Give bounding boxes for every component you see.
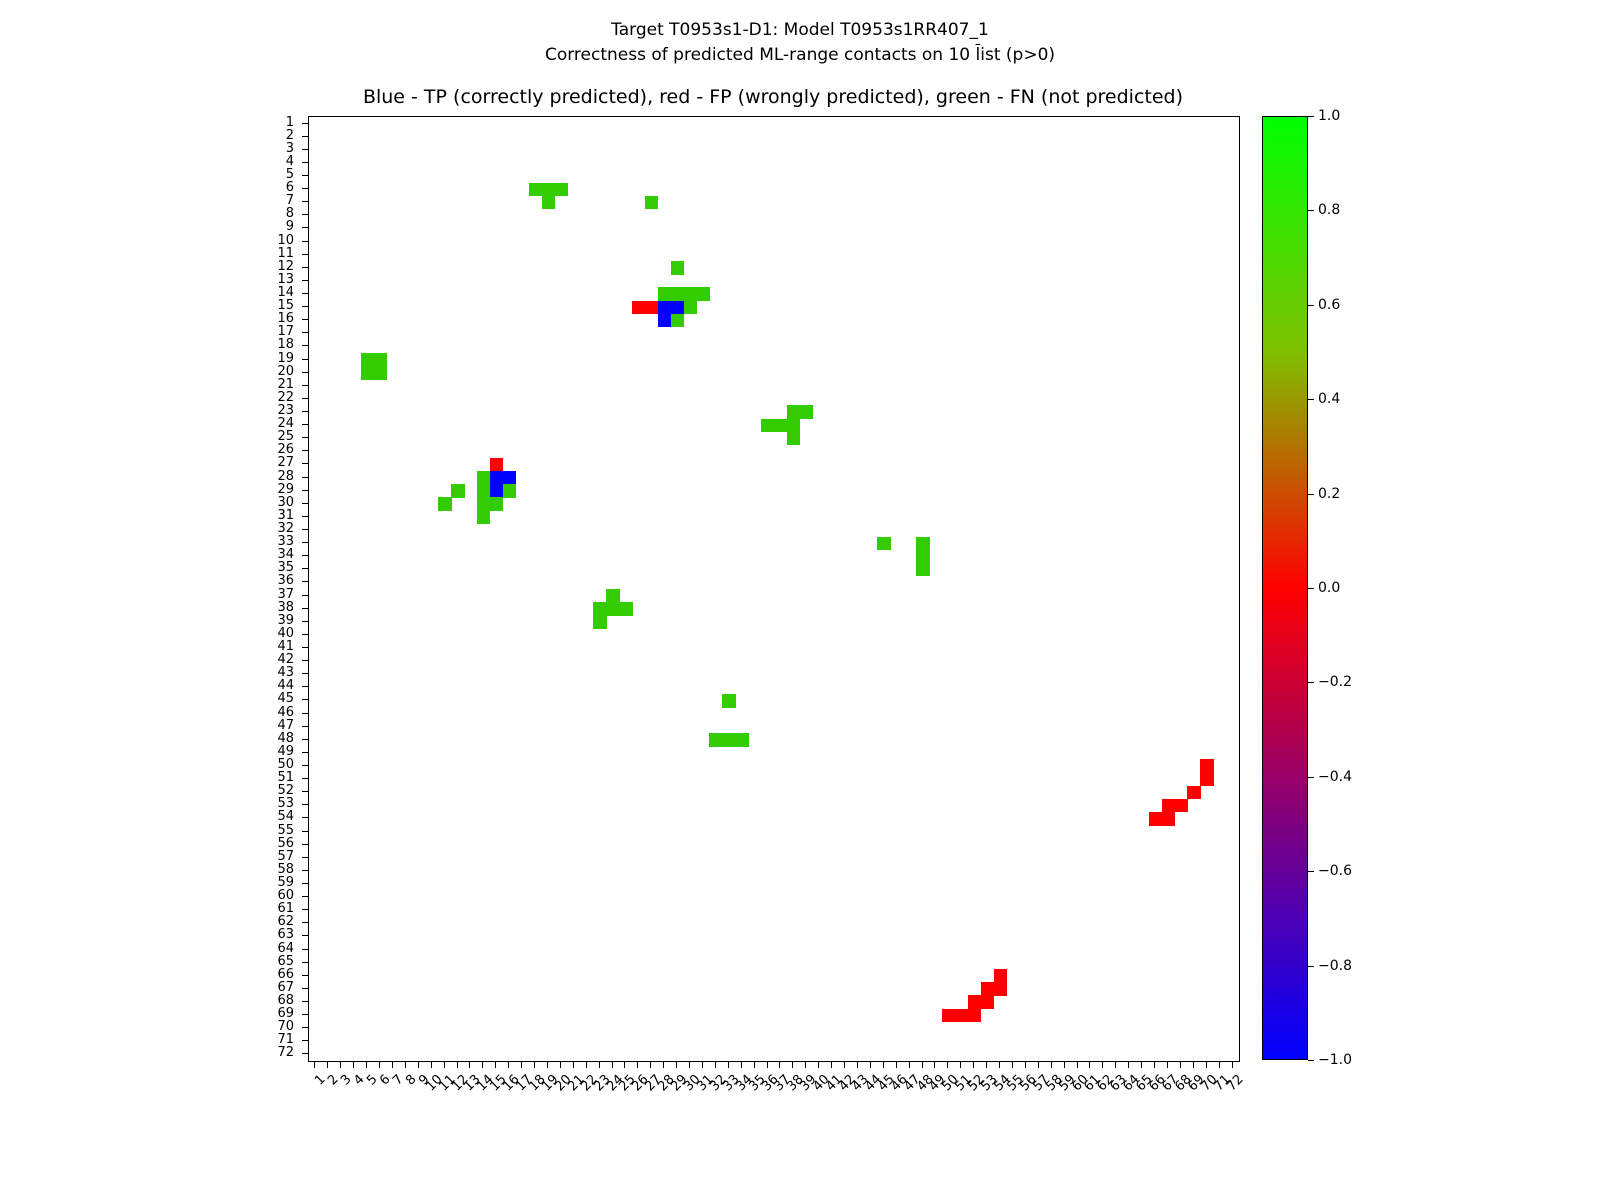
- y-tick-label: 2: [4, 129, 294, 142]
- contact-cell-fn: [361, 366, 375, 380]
- x-tick-mark: [521, 1062, 522, 1068]
- x-tick-mark: [1232, 1062, 1233, 1068]
- y-tick-label: 65: [4, 955, 294, 968]
- y-tick-label: 33: [4, 535, 294, 548]
- colorbar-tick-mark: [1308, 588, 1314, 589]
- contact-cell-fn: [671, 287, 685, 301]
- y-tick-label: 55: [4, 824, 294, 837]
- y-tick-label: 48: [4, 732, 294, 745]
- y-tick-label: 24: [4, 417, 294, 430]
- x-tick-mark: [534, 1062, 535, 1068]
- x-tick-mark: [327, 1062, 328, 1068]
- colorbar-tick-label: 0.0: [1318, 581, 1340, 595]
- contact-cell-tp: [658, 314, 672, 328]
- contact-map-cells: [309, 117, 1239, 1061]
- contact-cell-fp: [981, 995, 995, 1009]
- y-tick-label: 67: [4, 981, 294, 994]
- y-tick-label: 72: [4, 1046, 294, 1059]
- x-tick-mark: [960, 1062, 961, 1068]
- y-tick-label: 45: [4, 692, 294, 705]
- y-tick-label: 29: [4, 483, 294, 496]
- contact-cell-fn: [606, 589, 620, 603]
- figure-suptitle: Target T0953s1-D1: Model T0953s1RR407_1 …: [0, 18, 1600, 68]
- colorbar-tick-mark: [1308, 871, 1314, 872]
- y-tick-label: 57: [4, 850, 294, 863]
- y-tick-label: 52: [4, 784, 294, 797]
- y-tick-label: 54: [4, 810, 294, 823]
- contact-cell-fn: [477, 510, 491, 524]
- x-tick-mark: [818, 1062, 819, 1068]
- x-tick-mark: [857, 1062, 858, 1068]
- y-tick-label: 32: [4, 522, 294, 535]
- y-tick-label: 17: [4, 325, 294, 338]
- y-tick-label: 37: [4, 588, 294, 601]
- x-tick-mark: [379, 1062, 380, 1068]
- y-tick-label: 63: [4, 928, 294, 941]
- contact-cell-fn: [374, 366, 388, 380]
- y-tick-label: 7: [4, 194, 294, 207]
- contact-cell-fn: [438, 497, 452, 511]
- y-tick-label: 4: [4, 155, 294, 168]
- y-tick-label: 41: [4, 640, 294, 653]
- y-tick-label: 66: [4, 968, 294, 981]
- contact-cell-fn: [451, 484, 465, 498]
- y-tick-label: 61: [4, 902, 294, 915]
- x-tick-mark: [1089, 1062, 1090, 1068]
- y-tick-label: 68: [4, 994, 294, 1007]
- y-tick-label: 62: [4, 915, 294, 928]
- colorbar-tick-mark: [1308, 494, 1314, 495]
- y-tick-label: 71: [4, 1033, 294, 1046]
- x-tick-mark: [1180, 1062, 1181, 1068]
- y-tick-label: 14: [4, 286, 294, 299]
- x-tick-mark: [715, 1062, 716, 1068]
- x-tick-mark: [689, 1062, 690, 1068]
- contact-cell-fn: [658, 287, 672, 301]
- x-axis: 1234567891011121314151617181920212223242…: [308, 1062, 1248, 1192]
- y-tick-label: 22: [4, 391, 294, 404]
- x-tick-mark: [922, 1062, 923, 1068]
- x-tick-mark: [805, 1062, 806, 1068]
- contact-cell-fn: [697, 287, 711, 301]
- contact-cell-fn: [787, 419, 801, 433]
- y-tick-label: 31: [4, 509, 294, 522]
- y-tick-label: 15: [4, 299, 294, 312]
- contact-cell-fn: [374, 353, 388, 367]
- x-tick-mark: [663, 1062, 664, 1068]
- contact-cell-fp: [1162, 799, 1176, 813]
- y-tick-label: 25: [4, 430, 294, 443]
- contact-cell-fn: [671, 314, 685, 328]
- x-tick-mark: [469, 1062, 470, 1068]
- y-tick-label: 10: [4, 234, 294, 247]
- x-tick-mark: [392, 1062, 393, 1068]
- x-tick-mark: [1219, 1062, 1220, 1068]
- colorbar-tick-label: 0.4: [1318, 392, 1340, 406]
- contact-cell-fn: [542, 183, 556, 197]
- y-tick-label: 70: [4, 1020, 294, 1033]
- x-tick-mark: [431, 1062, 432, 1068]
- contact-cell-fp: [981, 982, 995, 996]
- x-tick-mark: [728, 1062, 729, 1068]
- x-tick-mark: [1051, 1062, 1052, 1068]
- contact-cell-fp: [942, 1009, 956, 1023]
- y-tick-label: 12: [4, 260, 294, 273]
- contact-cell-fp: [645, 301, 659, 315]
- contact-cell-tp: [503, 471, 517, 485]
- x-tick-mark: [883, 1062, 884, 1068]
- x-tick-mark: [870, 1062, 871, 1068]
- x-tick-mark: [779, 1062, 780, 1068]
- y-tick-label: 30: [4, 496, 294, 509]
- y-tick-label: 19: [4, 352, 294, 365]
- contact-cell-fn: [529, 183, 543, 197]
- x-tick-mark: [353, 1062, 354, 1068]
- contact-cell-fn: [709, 733, 723, 747]
- y-tick-label: 42: [4, 653, 294, 666]
- contact-cell-fn: [593, 602, 607, 616]
- x-tick-mark: [741, 1062, 742, 1068]
- x-tick-mark: [754, 1062, 755, 1068]
- y-tick-label: 13: [4, 273, 294, 286]
- contact-cell-fp: [1162, 812, 1176, 826]
- x-tick-mark: [831, 1062, 832, 1068]
- y-tick-label: 3: [4, 142, 294, 155]
- contact-cell-fp: [955, 1009, 969, 1023]
- y-tick-label: 35: [4, 561, 294, 574]
- contact-cell-fn: [477, 471, 491, 485]
- contact-cell-fn: [477, 484, 491, 498]
- x-tick-mark: [637, 1062, 638, 1068]
- y-tick-label: 50: [4, 758, 294, 771]
- x-tick-mark: [560, 1062, 561, 1068]
- x-tick-mark: [586, 1062, 587, 1068]
- suptitle-text-pre: Correctness of predicted ML-range contac…: [545, 45, 976, 65]
- contact-cell-fp: [1200, 773, 1214, 787]
- x-tick-mark: [947, 1062, 948, 1068]
- y-tick-label: 56: [4, 837, 294, 850]
- x-tick-mark: [599, 1062, 600, 1068]
- suptitle-line-target-model: Target T0953s1-D1: Model T0953s1RR407_1: [0, 18, 1600, 43]
- y-tick-label: 16: [4, 312, 294, 325]
- colorbar-tick-mark: [1308, 777, 1314, 778]
- x-tick-mark: [612, 1062, 613, 1068]
- colorbar-tick-mark: [1308, 682, 1314, 683]
- x-tick-mark: [1154, 1062, 1155, 1068]
- y-tick-label: 1: [4, 116, 294, 129]
- x-tick-mark: [650, 1062, 651, 1068]
- contact-cell-fn: [490, 497, 504, 511]
- x-tick-mark: [482, 1062, 483, 1068]
- y-tick-label: 9: [4, 220, 294, 233]
- x-tick-mark: [934, 1062, 935, 1068]
- contact-cell-fn: [619, 602, 633, 616]
- contact-cell-fn: [361, 353, 375, 367]
- contact-cell-fn: [606, 602, 620, 616]
- contact-map-plot-area[interactable]: [308, 116, 1240, 1062]
- contact-cell-tp: [671, 301, 685, 315]
- contact-cell-fn: [477, 497, 491, 511]
- contact-cell-tp: [490, 484, 504, 498]
- contact-cell-fn: [774, 419, 788, 433]
- contact-cell-fn: [761, 419, 775, 433]
- colorbar-gradient-lower: [1262, 588, 1308, 1060]
- contact-cell-fp: [1149, 812, 1163, 826]
- contact-cell-fn: [554, 183, 568, 197]
- x-tick-mark: [1141, 1062, 1142, 1068]
- contact-cell-fn: [877, 537, 891, 551]
- y-axis: 1234567891011121314151617181920212223242…: [0, 116, 308, 1062]
- x-tick-mark: [1077, 1062, 1078, 1068]
- x-tick-mark: [767, 1062, 768, 1068]
- contact-cell-fp: [632, 301, 646, 315]
- y-tick-label: 26: [4, 443, 294, 456]
- colorbar-tick-mark: [1308, 305, 1314, 306]
- x-tick-mark: [547, 1062, 548, 1068]
- colorbar-tick-mark: [1308, 1060, 1314, 1061]
- contact-cell-fn: [645, 196, 659, 210]
- contact-cell-fn: [916, 550, 930, 564]
- y-tick-label: 28: [4, 470, 294, 483]
- y-tick-label: 43: [4, 666, 294, 679]
- contact-cell-fn: [542, 196, 556, 210]
- contact-cell-fn: [722, 694, 736, 708]
- y-tick-label: 8: [4, 207, 294, 220]
- colorbar-tick-mark: [1308, 399, 1314, 400]
- x-tick-mark: [508, 1062, 509, 1068]
- x-tick-mark: [909, 1062, 910, 1068]
- y-tick-label: 53: [4, 797, 294, 810]
- x-tick-mark: [314, 1062, 315, 1068]
- y-tick-label: 23: [4, 404, 294, 417]
- x-tick-mark: [1115, 1062, 1116, 1068]
- contact-cell-fn: [722, 733, 736, 747]
- colorbar-tick-label: 1.0: [1318, 109, 1340, 123]
- y-tick-label: 5: [4, 168, 294, 181]
- x-tick-mark: [1167, 1062, 1168, 1068]
- y-tick-label: 64: [4, 942, 294, 955]
- x-tick-mark: [999, 1062, 1000, 1068]
- x-tick-mark: [1012, 1062, 1013, 1068]
- contact-cell-fn: [671, 261, 685, 275]
- y-tick-label: 11: [4, 247, 294, 260]
- y-tick-label: 36: [4, 574, 294, 587]
- x-tick-mark: [896, 1062, 897, 1068]
- colorbar-gradient-upper: [1262, 116, 1308, 588]
- colorbar-tick-mark: [1308, 210, 1314, 211]
- y-tick-label: 59: [4, 876, 294, 889]
- contact-cell-fn: [916, 563, 930, 577]
- y-tick-label: 47: [4, 719, 294, 732]
- x-tick-mark: [1038, 1062, 1039, 1068]
- y-tick-label: 44: [4, 679, 294, 692]
- y-tick-label: 58: [4, 863, 294, 876]
- y-tick-label: 60: [4, 889, 294, 902]
- colorbar-tick-label: 0.8: [1318, 203, 1340, 217]
- colorbar-tick-label: −1.0: [1318, 1053, 1352, 1067]
- contact-cell-fn: [503, 484, 517, 498]
- contact-cell-fp: [490, 458, 504, 472]
- y-tick-label: 46: [4, 706, 294, 719]
- contact-cell-fp: [1187, 786, 1201, 800]
- suptitle-text-post: ist (p>0): [980, 45, 1055, 65]
- contact-cell-fp: [994, 982, 1008, 996]
- contact-cell-tp: [490, 471, 504, 485]
- x-tick-mark: [573, 1062, 574, 1068]
- x-tick-mark: [973, 1062, 974, 1068]
- x-tick-mark: [986, 1062, 987, 1068]
- y-tick-label: 40: [4, 627, 294, 640]
- x-tick-mark: [418, 1062, 419, 1068]
- contact-cell-fn: [787, 405, 801, 419]
- x-tick-mark: [1206, 1062, 1207, 1068]
- x-tick-mark: [702, 1062, 703, 1068]
- contact-cell-tp: [658, 301, 672, 315]
- contact-cell-fn: [800, 405, 814, 419]
- y-tick-label: 34: [4, 548, 294, 561]
- contact-cell-fn: [684, 301, 698, 315]
- x-tick-mark: [792, 1062, 793, 1068]
- colorbar-tick-label: 0.2: [1318, 487, 1340, 501]
- y-tick-label: 6: [4, 181, 294, 194]
- y-tick-label: 18: [4, 338, 294, 351]
- contact-cell-fp: [1200, 759, 1214, 773]
- contact-cell-fp: [968, 1009, 982, 1023]
- contact-cell-fp: [994, 969, 1008, 983]
- x-tick-mark: [1102, 1062, 1103, 1068]
- x-tick-mark: [1025, 1062, 1026, 1068]
- colorbar-tick-label: −0.2: [1318, 675, 1352, 689]
- contact-cell-fn: [593, 615, 607, 629]
- x-tick-mark: [1193, 1062, 1194, 1068]
- y-tick-label: 21: [4, 378, 294, 391]
- y-tick-label: 38: [4, 601, 294, 614]
- suptitle-line-description: Correctness of predicted ML-range contac…: [0, 43, 1600, 68]
- contact-cell-fn: [684, 287, 698, 301]
- colorbar-tick-label: −0.6: [1318, 864, 1352, 878]
- colorbar-tick-mark: [1308, 966, 1314, 967]
- contact-cell-fp: [1174, 799, 1188, 813]
- y-tick-label: 69: [4, 1007, 294, 1020]
- contact-cell-fn: [916, 537, 930, 551]
- x-tick-mark: [624, 1062, 625, 1068]
- x-tick-mark: [495, 1062, 496, 1068]
- x-tick-mark: [457, 1062, 458, 1068]
- colorbar[interactable]: 1.00.80.60.40.20.0−0.2−0.4−0.6−0.8−1.0: [1262, 116, 1310, 1060]
- x-tick-mark: [366, 1062, 367, 1068]
- axes-title-legend: Blue - TP (correctly predicted), red - F…: [308, 86, 1238, 108]
- y-tick-label: 20: [4, 365, 294, 378]
- y-tick-label: 49: [4, 745, 294, 758]
- x-tick-mark: [676, 1062, 677, 1068]
- y-tick-label: 39: [4, 614, 294, 627]
- contact-cell-fn: [787, 432, 801, 446]
- x-tick-mark: [444, 1062, 445, 1068]
- contact-cell-fn: [735, 733, 749, 747]
- y-tick-label: 27: [4, 456, 294, 469]
- colorbar-tick-label: 0.6: [1318, 298, 1340, 312]
- y-tick-label: 51: [4, 771, 294, 784]
- x-tick-mark: [844, 1062, 845, 1068]
- x-tick-mark: [340, 1062, 341, 1068]
- colorbar-tick-label: −0.8: [1318, 959, 1352, 973]
- x-tick-mark: [405, 1062, 406, 1068]
- x-tick-mark: [1064, 1062, 1065, 1068]
- colorbar-tick-mark: [1308, 116, 1314, 117]
- contact-cell-fp: [968, 995, 982, 1009]
- colorbar-tick-label: −0.4: [1318, 770, 1352, 784]
- x-tick-mark: [1128, 1062, 1129, 1068]
